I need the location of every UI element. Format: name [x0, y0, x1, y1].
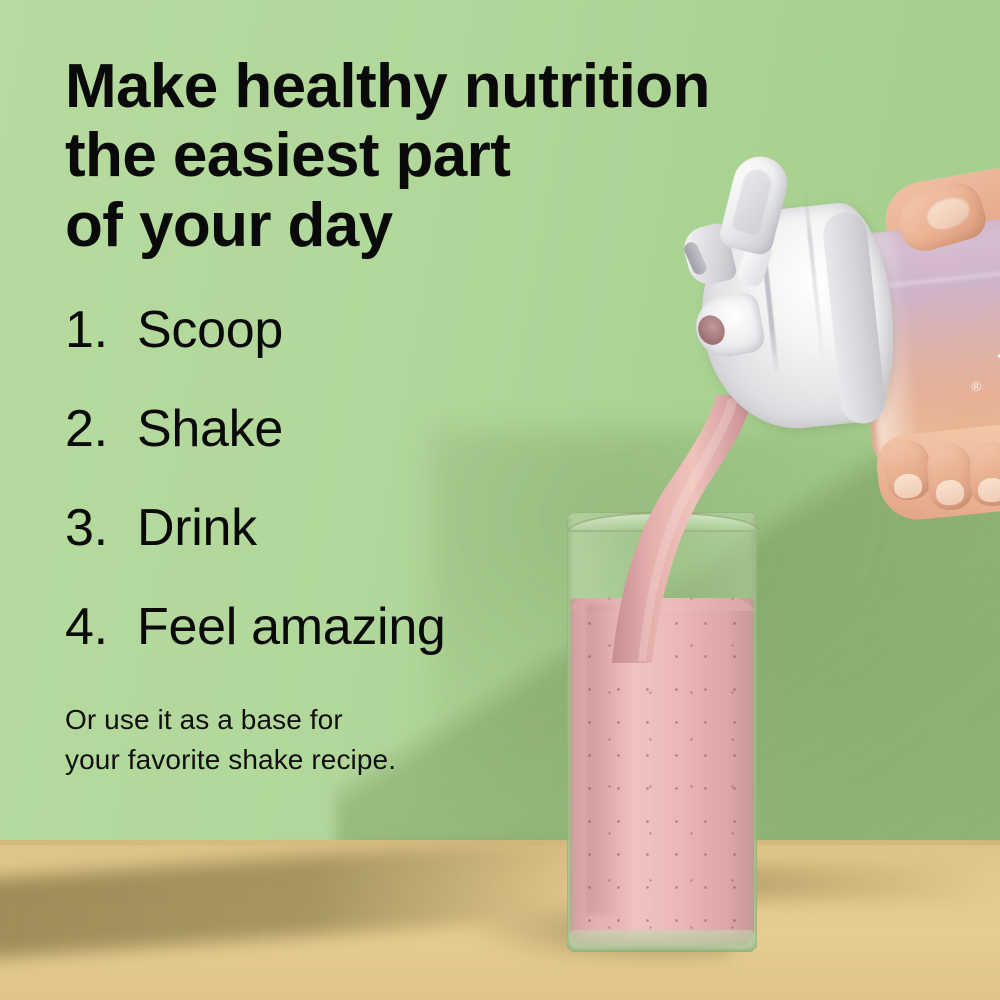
step-number: 3. [65, 502, 137, 554]
headline: Make healthy nutrition the easiest part … [65, 52, 885, 260]
bottle-logo: AY [994, 335, 1000, 397]
list-item: 1. Scoop [65, 304, 885, 356]
copy-block: Make healthy nutrition the easiest part … [65, 52, 885, 780]
step-label: Feel amazing [137, 601, 446, 653]
bottle-registered-mark: ® [971, 378, 982, 394]
step-number: 2. [65, 403, 137, 455]
list-item: 4. Feel amazing [65, 601, 885, 653]
step-label: Shake [137, 403, 283, 455]
step-label: Drink [137, 502, 257, 554]
promo-image: AY ® Make healthy nutrition the easiest … [0, 0, 1000, 1000]
step-number: 1. [65, 304, 137, 356]
fingernail [935, 479, 965, 506]
step-label: Scoop [137, 304, 283, 356]
footnote: Or use it as a base for your favorite sh… [65, 700, 885, 780]
steps-list: 1. Scoop 2. Shake 3. Drink 4. Feel amazi… [65, 304, 885, 653]
step-number: 4. [65, 601, 137, 653]
list-item: 3. Drink [65, 502, 885, 554]
fingernail [978, 478, 1000, 502]
glass-base [567, 930, 757, 952]
list-item: 2. Shake [65, 403, 885, 455]
